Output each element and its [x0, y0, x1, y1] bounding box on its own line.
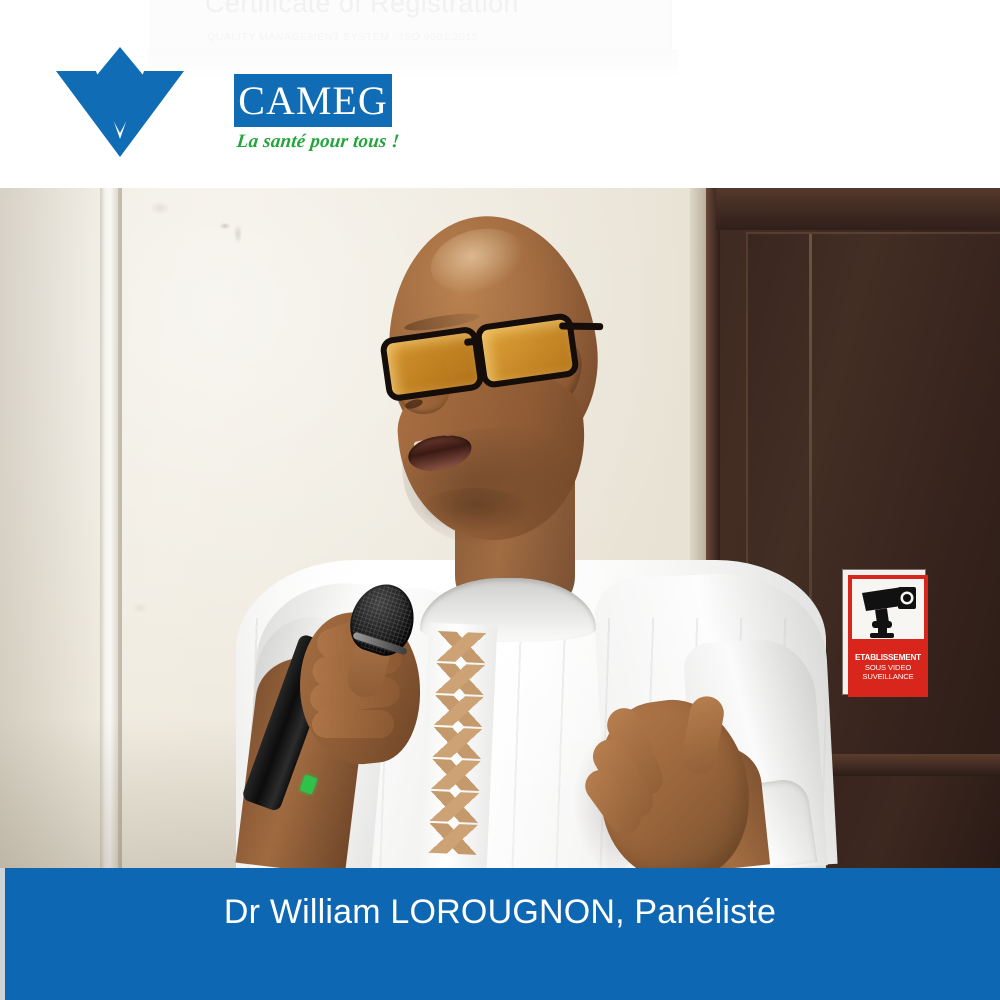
gold-embroidery: [425, 629, 491, 868]
cameg-logo: CAMEG La santé pour tous !: [56, 47, 356, 163]
caption-bar: [0, 868, 1000, 1000]
glasses-temple: [559, 322, 603, 330]
cameg-wordmark: CAMEG: [234, 74, 392, 127]
finger: [312, 710, 394, 738]
header-brand-band: Certificate of Registration QUALITY MANA…: [0, 0, 1000, 188]
caption-text: Dr William LOROUGNON, Panéliste: [0, 893, 1000, 932]
lens-left: [379, 325, 485, 402]
chin-shadow: [420, 488, 530, 532]
speaker-figure: [0, 188, 1000, 868]
cameg-chevron-diamond-icon: [56, 47, 184, 157]
speaker-photo: ETABLISSEMENT SOUS VIDEO SUVEILLANCE: [0, 188, 1000, 868]
cameg-tagline: La santé pour tous !: [231, 131, 405, 153]
certificate-background-subtitle: QUALITY MANAGEMENT SYSTEM - ISO 9001:201…: [207, 31, 677, 43]
certificate-background-title: Certificate of Registration: [205, 0, 675, 19]
social-media-card: Certificate of Registration QUALITY MANA…: [0, 0, 1000, 1000]
cameg-wordmark-text: CAMEG: [234, 74, 392, 127]
caption-bar-left-edge: [0, 868, 5, 1000]
